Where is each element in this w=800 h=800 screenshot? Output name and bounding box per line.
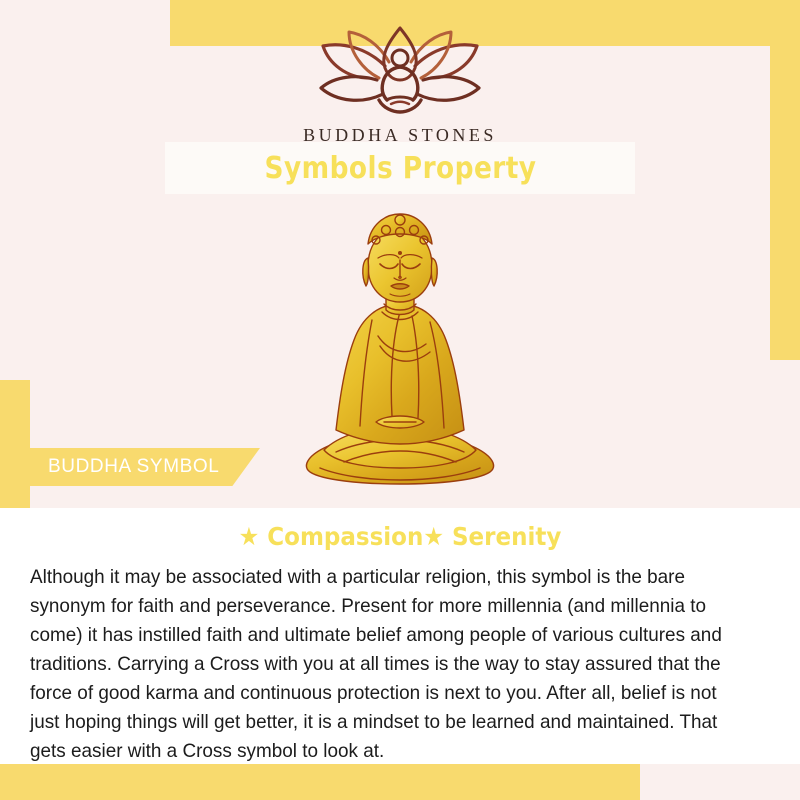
content-card: ★ Compassion★ Serenity Although it may b… [0,508,800,764]
bottom-left-frame-horizontal [0,764,640,800]
lotus-meditation-icon [307,22,493,123]
ribbon-label: BUDDHA SYMBOL [48,456,219,478]
description-text: Although it may be associated with a par… [30,563,748,766]
page-title: Symbols Property [264,151,536,186]
title-banner: Symbols Property [165,142,635,194]
seated-golden-buddha-statue [280,200,520,500]
brand-header: BUDDHA STONES [0,22,800,146]
attributes-subtitle: ★ Compassion★ Serenity [60,522,741,551]
buddha-symbol-ribbon: BUDDHA SYMBOL [30,448,260,486]
